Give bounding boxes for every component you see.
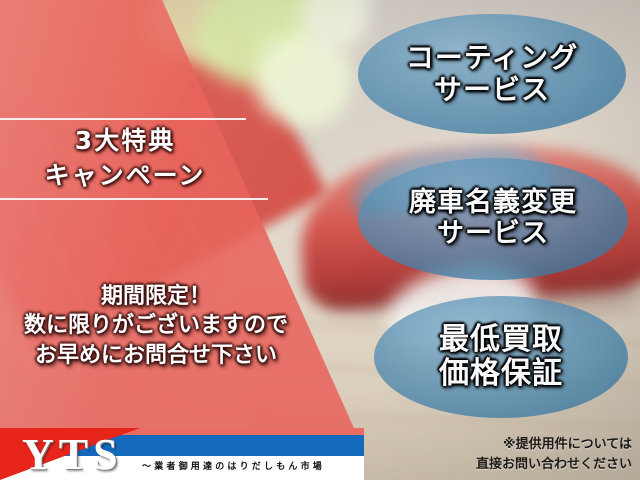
service-oval-price-guarantee: 最低買取 価格保証 bbox=[374, 296, 628, 418]
promo-line-3: お早めにお問合せ下さい bbox=[0, 341, 312, 370]
service-oval-coating-text: コーティング サービス bbox=[406, 42, 578, 106]
service-oval-scrap-transfer-text: 廃車名義変更 サービス bbox=[409, 188, 577, 250]
service-oval-price-guarantee-line-1: 最低買取 bbox=[439, 323, 563, 357]
service-oval-price-guarantee-line-2: 価格保証 bbox=[439, 357, 563, 391]
service-oval-scrap-transfer-line-1: 廃車名義変更 bbox=[409, 188, 577, 219]
service-oval-price-guarantee-text: 最低買取 価格保証 bbox=[439, 323, 563, 391]
promo-banner: 3大特典 キャンペーン 期間限定！ 数に限りがございますので お早めにお問合せ下… bbox=[0, 0, 640, 480]
footnote-line-2: 直接お問い合わせください bbox=[476, 455, 632, 475]
logo-wordmark: YTS bbox=[22, 433, 123, 477]
company-logo[interactable]: YTS 〜業者御用達のはりだしもん市場 bbox=[0, 428, 364, 480]
service-oval-scrap-transfer-line-2: サービス bbox=[409, 219, 577, 250]
footnote-line-1: ※提供用件については bbox=[476, 435, 632, 455]
service-oval-scrap-transfer: 廃車名義変更 サービス bbox=[358, 158, 628, 280]
promo-message: 期間限定！ 数に限りがございますので お早めにお問合せ下さい bbox=[0, 282, 312, 370]
footnote: ※提供用件については 直接お問い合わせください bbox=[476, 435, 632, 474]
campaign-title: 3大特典 キャンペーン bbox=[0, 126, 250, 190]
promo-line-2: 数に限りがございますので bbox=[0, 311, 312, 340]
service-oval-coating: コーティング サービス bbox=[358, 14, 626, 134]
promo-line-1: 期間限定！ bbox=[0, 282, 312, 311]
service-oval-coating-line-2: サービス bbox=[406, 74, 578, 106]
service-oval-coating-line-1: コーティング bbox=[406, 42, 578, 74]
campaign-title-line-2: キャンペーン bbox=[0, 161, 250, 190]
logo-tagline: 〜業者御用達のはりだしもん市場 bbox=[142, 459, 325, 472]
campaign-title-line-1: 3大特典 bbox=[0, 126, 250, 155]
divider-rule-top bbox=[0, 118, 246, 120]
divider-rule-bottom bbox=[0, 198, 268, 200]
